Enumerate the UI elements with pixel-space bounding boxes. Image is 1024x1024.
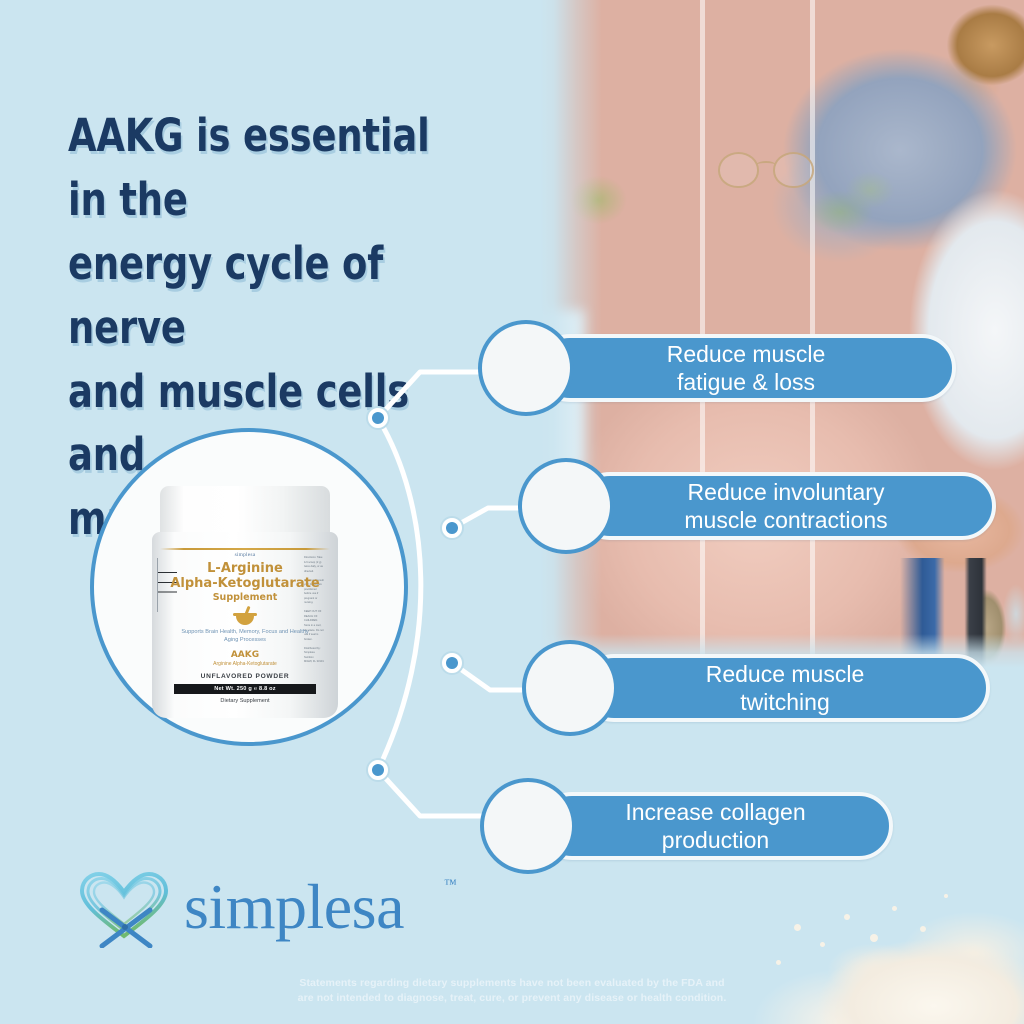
callout-knob-1 bbox=[478, 320, 574, 416]
trademark-symbol: ™ bbox=[444, 876, 457, 892]
infographic-canvas: AAKG is essential in the energy cycle of… bbox=[0, 0, 1024, 1024]
jar-claim-text: Supports Brain Health, Memory, Focus and… bbox=[152, 628, 338, 645]
fda-disclaimer: Statements regarding dietary supplements… bbox=[0, 976, 1024, 1006]
callout-knob-3 bbox=[522, 640, 618, 736]
jar-aakg-name: AAKG bbox=[152, 650, 338, 660]
jar-aakg-fullname: Arginine Alpha-Ketoglutarate bbox=[152, 661, 338, 667]
jar-front-label: simplesa L-Arginine Alpha-Ketoglutarate … bbox=[152, 552, 338, 704]
callout-label-2[interactable]: Reduce involuntary muscle contractions bbox=[576, 472, 996, 540]
callout-label-3[interactable]: Reduce muscle twitching bbox=[580, 654, 990, 722]
jar-lid bbox=[160, 486, 330, 538]
jar-product-subtitle: Supplement bbox=[152, 592, 338, 603]
jar-form-text: UNFLAVORED POWDER bbox=[152, 673, 338, 680]
mortar-and-pestle-icon bbox=[233, 607, 257, 625]
brand-logo: simplesa ™ bbox=[72, 868, 472, 954]
connector-branch-4 bbox=[378, 770, 500, 816]
connector-node-4 bbox=[367, 759, 389, 781]
jar-net-weight: Net Wt. 250 g ℮ 8.8 oz bbox=[174, 684, 316, 694]
jar-product-title: L-Arginine Alpha-Ketoglutarate bbox=[152, 562, 338, 591]
jar-gold-accent bbox=[160, 548, 330, 550]
brand-wordmark: simplesa bbox=[184, 870, 404, 944]
jar-brand-mark: simplesa bbox=[152, 552, 338, 558]
callout-label-1[interactable]: Reduce muscle fatigue & loss bbox=[536, 334, 956, 402]
connector-node-3 bbox=[441, 652, 463, 674]
callout-knob-2 bbox=[518, 458, 614, 554]
eyeglasses-icon bbox=[718, 152, 814, 190]
product-jar: Directions: Take 1/4 scoop (2 g) twice d… bbox=[152, 486, 338, 718]
callout-label-4[interactable]: Increase collagen production bbox=[538, 792, 893, 860]
jar-dietary-text: Dietary Supplement bbox=[152, 698, 338, 704]
callout-knob-4 bbox=[480, 778, 576, 874]
heart-rx-icon bbox=[72, 868, 184, 948]
